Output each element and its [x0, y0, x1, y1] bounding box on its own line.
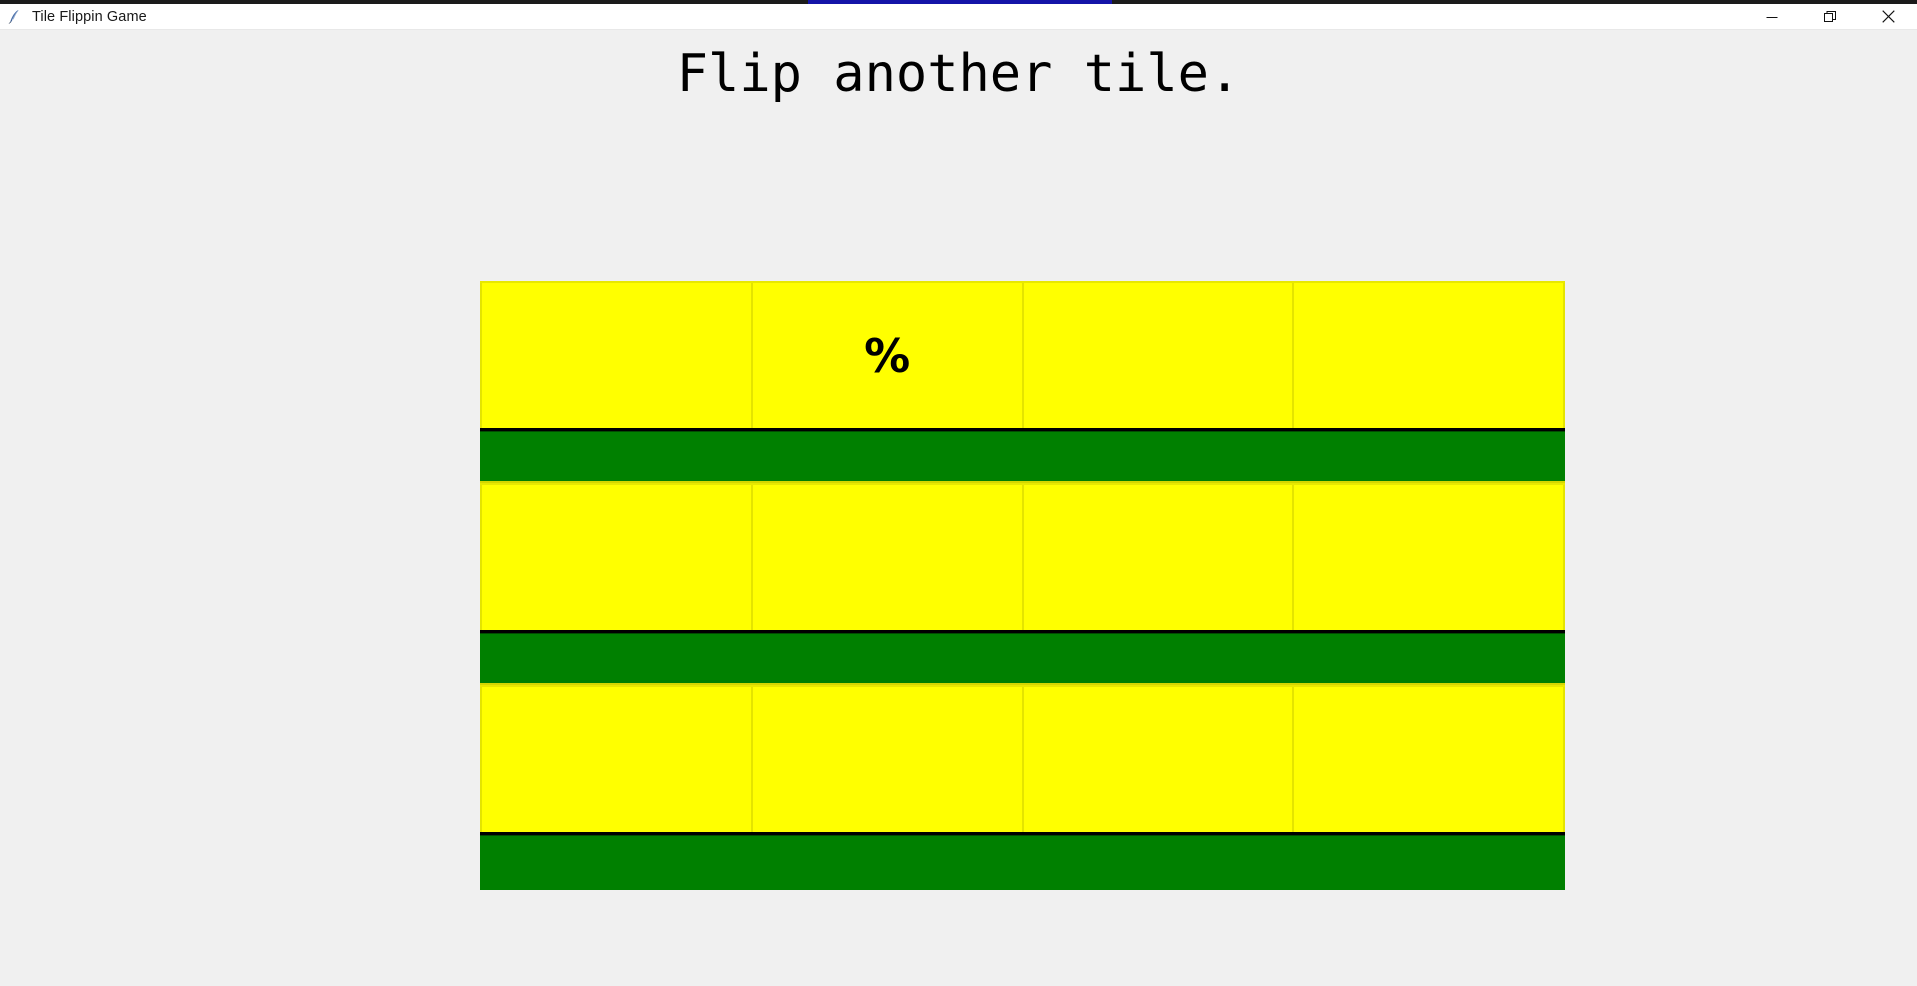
- tile-3-3[interactable]: [1023, 687, 1294, 832]
- tile-3-2[interactable]: [752, 687, 1023, 832]
- minimize-button[interactable]: [1743, 4, 1801, 29]
- tile-2-3[interactable]: [1023, 485, 1294, 630]
- tile-3-4[interactable]: [1293, 687, 1565, 832]
- tile-3-1[interactable]: [480, 687, 752, 832]
- tile-1-4[interactable]: [1293, 283, 1565, 428]
- window-title: Tile Flippin Game: [32, 9, 147, 25]
- window-top-border: [0, 0, 1917, 4]
- client-area: Flip another tile. %: [0, 29, 1917, 986]
- title-bar[interactable]: Tile Flippin Game: [0, 4, 1917, 30]
- status-message: Flip another tile.: [0, 43, 1917, 105]
- app-window: Tile Flippin Game Fli: [0, 0, 1917, 986]
- tile-1-2[interactable]: %: [752, 283, 1023, 428]
- title-bar-left: Tile Flippin Game: [0, 4, 147, 29]
- restore-button[interactable]: [1801, 4, 1859, 29]
- tile-row-1: %: [480, 281, 1565, 431]
- tile-row-3: [480, 685, 1565, 835]
- python-feather-icon: [7, 9, 23, 25]
- matched-row-2: [480, 633, 1565, 685]
- window-controls: [1743, 4, 1917, 29]
- tile-1-3[interactable]: [1023, 283, 1294, 428]
- tile-2-4[interactable]: [1293, 485, 1565, 630]
- tile-2-1[interactable]: [480, 485, 752, 630]
- tile-board: %: [480, 281, 1565, 890]
- tile-row-2: [480, 483, 1565, 633]
- matched-row-1: [480, 431, 1565, 483]
- matched-row-3: [480, 835, 1565, 890]
- tile-2-2[interactable]: [752, 485, 1023, 630]
- window-snap-hint: [808, 0, 1112, 4]
- close-button[interactable]: [1859, 4, 1917, 29]
- tile-1-1[interactable]: [480, 283, 752, 428]
